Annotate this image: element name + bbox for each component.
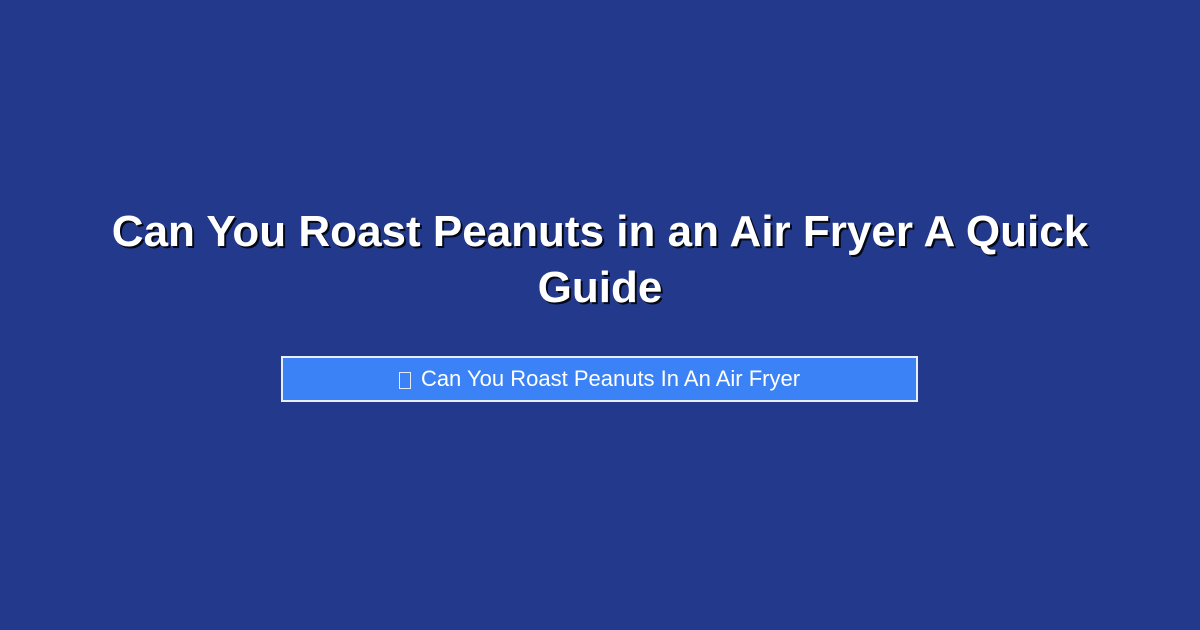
missing-glyph-box-icon xyxy=(399,372,411,389)
page-title: Can You Roast Peanuts in an Air Fryer A … xyxy=(94,204,1106,316)
cta-button-label: Can You Roast Peanuts In An Air Fryer xyxy=(421,366,800,392)
social-share-card: Can You Roast Peanuts in an Air Fryer A … xyxy=(0,0,1200,630)
cta-button[interactable]: Can You Roast Peanuts In An Air Fryer xyxy=(281,356,918,402)
